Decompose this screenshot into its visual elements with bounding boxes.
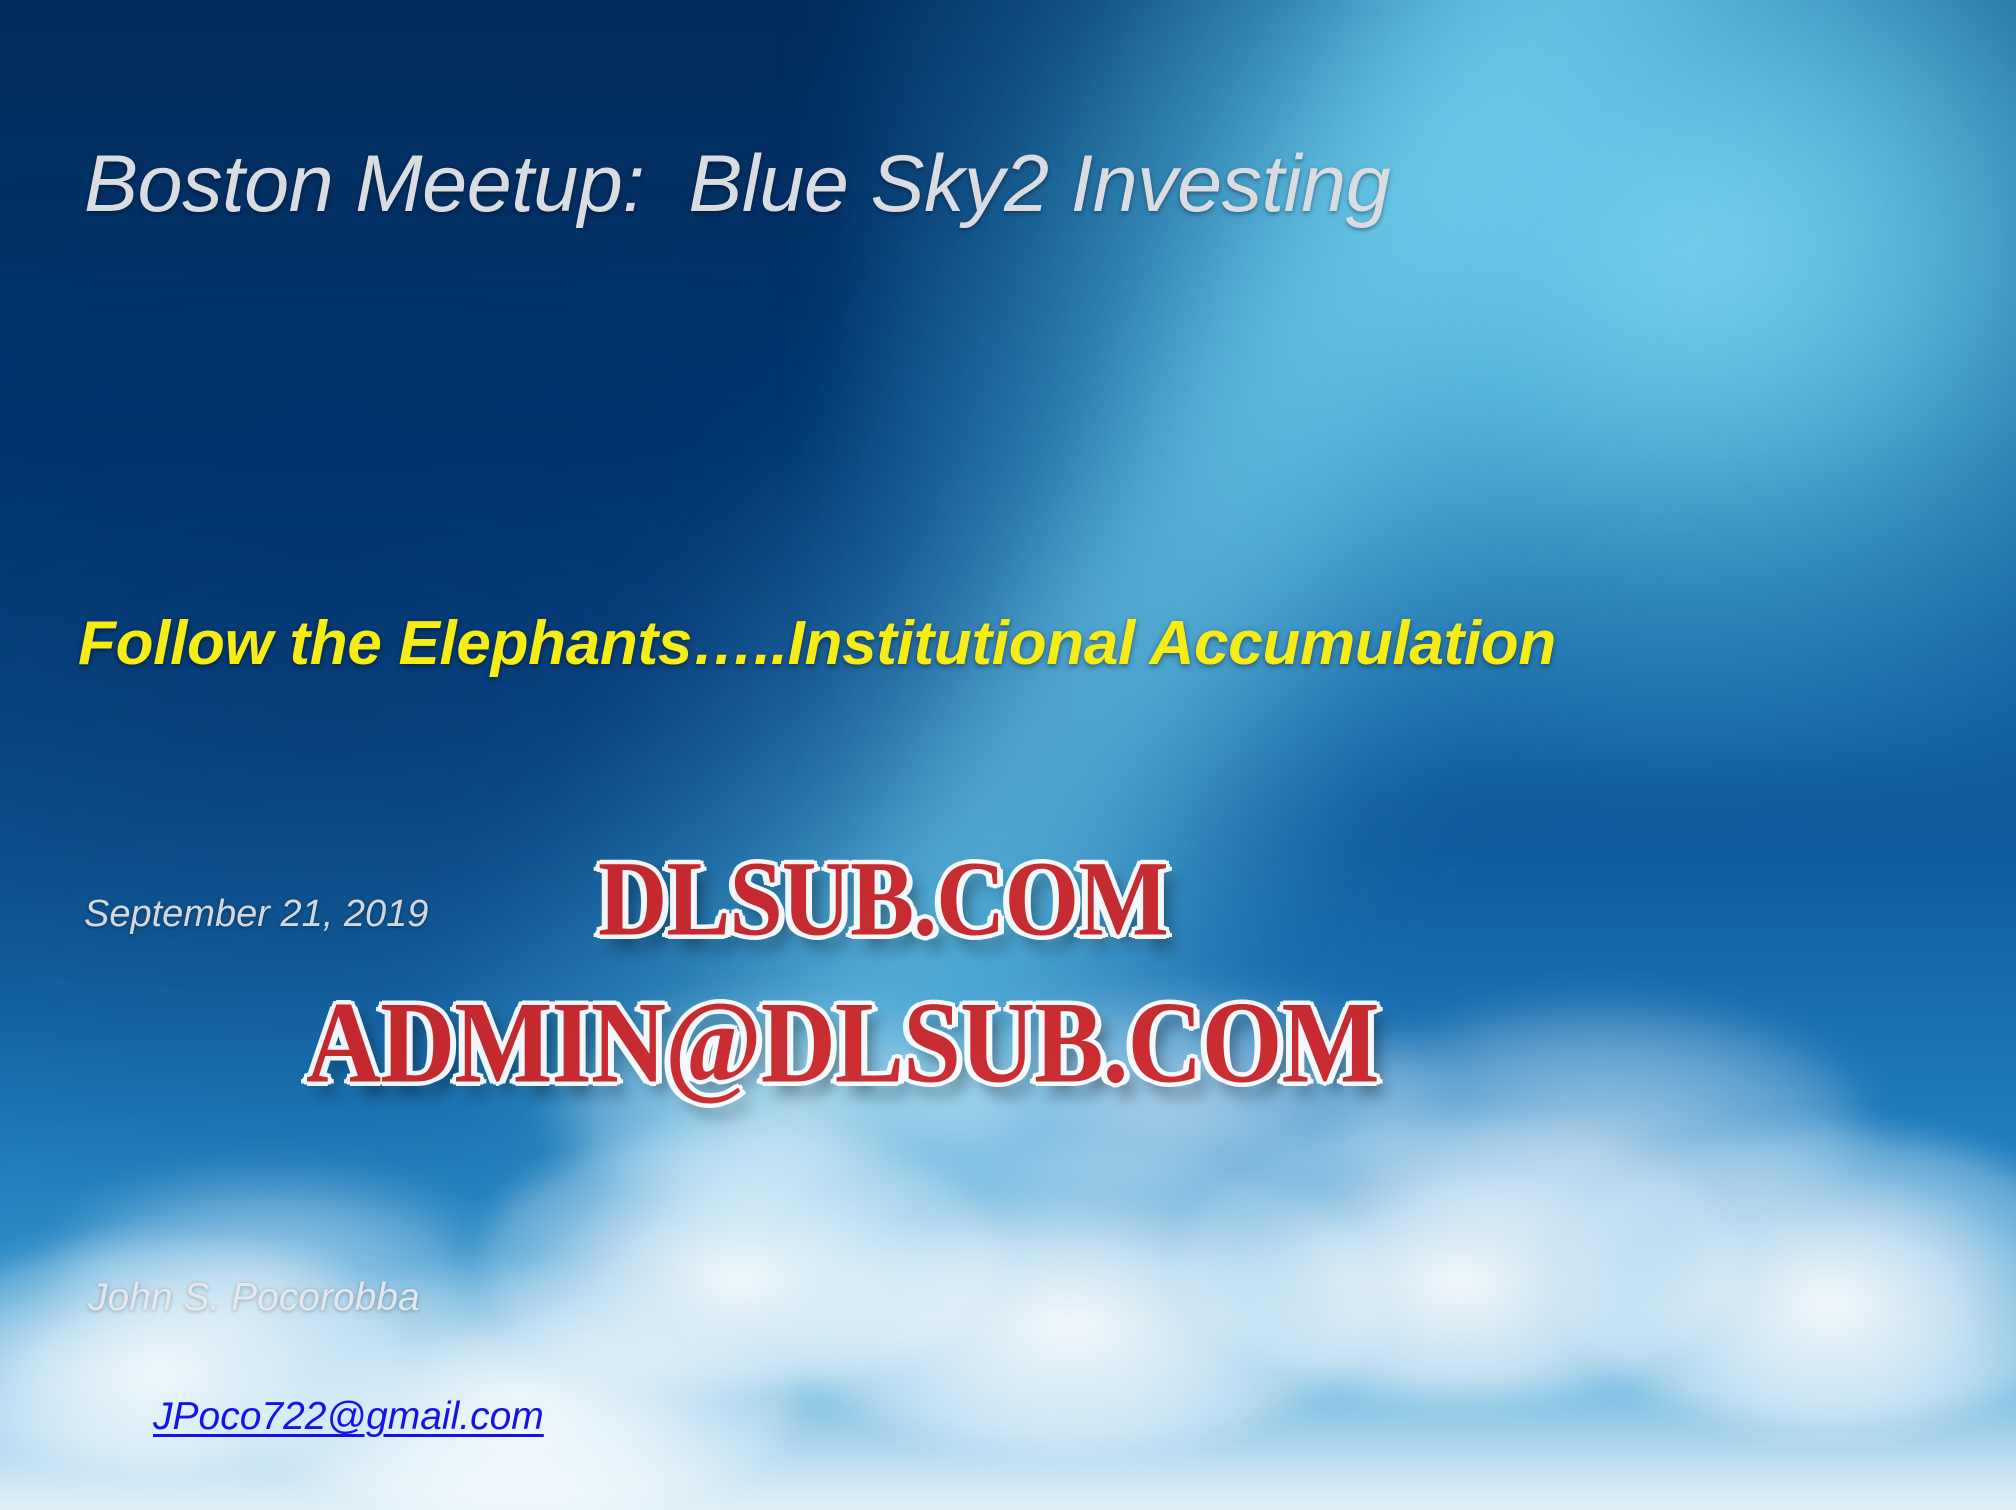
watermark-contact-email: ADMIN@DLSUB.COM bbox=[306, 976, 1379, 1109]
watermark-site: DLSUB.COM bbox=[598, 836, 1168, 960]
presenter-contact-block: John S. Pocorobba JPoco722@gmail.com Twi… bbox=[88, 1268, 988, 1510]
slide-subtitle: Follow the Elephants…..Institutional Acc… bbox=[78, 608, 1928, 679]
presenter-email-link[interactable]: JPoco722@gmail.com bbox=[153, 1387, 544, 1447]
presenter-twitter-handle: Twitter: RainKing@JPoco722 bbox=[88, 1507, 988, 1510]
presenter-name: John S. Pocorobba bbox=[88, 1268, 988, 1328]
slide-title: Boston Meetup: Blue Sky2 Investing bbox=[84, 138, 1844, 231]
slide-date: September 21, 2019 bbox=[84, 893, 428, 936]
presentation-slide: Boston Meetup: Blue Sky2 Investing Follo… bbox=[0, 0, 2016, 1510]
